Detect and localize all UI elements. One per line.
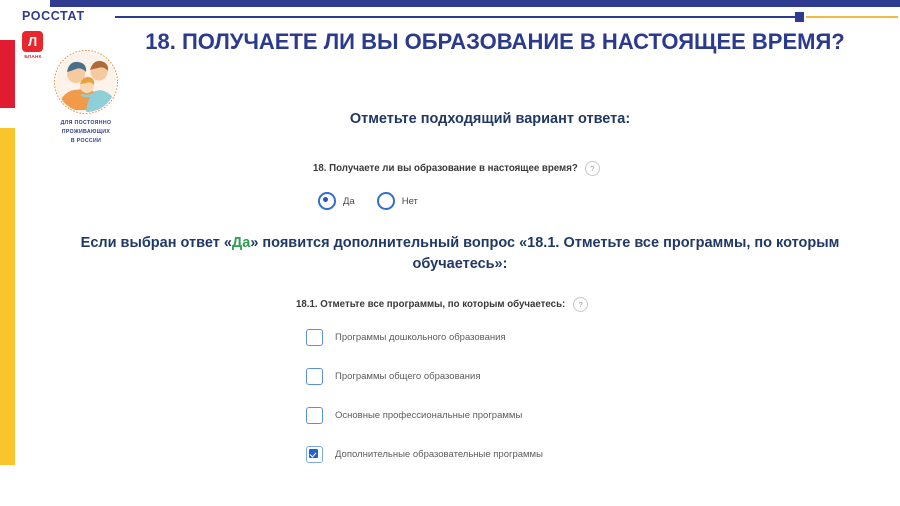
- horizontal-rule-blue: [115, 16, 797, 18]
- question-18-label: 18. Получаете ли вы образование в настоя…: [313, 163, 578, 174]
- checkbox-preschool-label: Программы дошкольного образования: [335, 332, 506, 343]
- blank-badge-caption: БЛАНК: [22, 54, 44, 59]
- checkbox-row-professional[interactable]: Основные профессиональные программы: [306, 407, 543, 424]
- checkbox-row-general[interactable]: Программы общего образования: [306, 368, 543, 385]
- question-18-1-label: 18.1. Отметьте все программы, по которым…: [296, 299, 565, 310]
- checkbox-professional-icon[interactable]: [306, 407, 323, 424]
- logo-caption: ДЛЯ ПОСТОЯННО ПРОЖИВАЮЩИХ В РОССИИ: [36, 119, 136, 146]
- note-text-after: » появится дополнительный вопрос «18.1. …: [250, 235, 839, 272]
- radio-option-yes[interactable]: Да: [318, 192, 355, 210]
- help-icon[interactable]: ?: [573, 297, 588, 312]
- horizontal-rule-orange: [806, 16, 898, 18]
- checkbox-additional-icon[interactable]: [306, 446, 323, 463]
- question-18-options: Да Нет: [318, 192, 418, 210]
- checkbox-general-icon[interactable]: [306, 368, 323, 385]
- radio-option-no[interactable]: Нет: [377, 192, 418, 210]
- page-title: 18. ПОЛУЧАЕТЕ ЛИ ВЫ ОБРАЗОВАНИЕ В НАСТОЯ…: [110, 28, 880, 57]
- checkbox-row-additional[interactable]: Дополнительные образовательные программы: [306, 446, 543, 463]
- checkbox-preschool-icon[interactable]: [306, 329, 323, 346]
- family-illustration-icon: [52, 48, 120, 116]
- question-18-1-options: Программы дошкольного образования Програ…: [306, 329, 543, 463]
- blank-badge-glyph: Л: [22, 31, 43, 52]
- brand-label: РОССТАТ: [22, 9, 85, 23]
- checkbox-row-preschool[interactable]: Программы дошкольного образования: [306, 329, 543, 346]
- question-18-1-row: 18.1. Отметьте все программы, по которым…: [296, 297, 588, 312]
- note-text-before: Если выбран ответ «: [81, 235, 232, 251]
- logo-caption-line-2: ПРОЖИВАЮЩИХ: [36, 128, 136, 137]
- logo-caption-line-3: В РОССИИ: [36, 137, 136, 146]
- blank-badge: Л БЛАНК: [22, 31, 44, 59]
- radio-yes-icon[interactable]: [318, 192, 336, 210]
- checkbox-general-label: Программы общего образования: [335, 371, 481, 382]
- checkbox-additional-label: Дополнительные образовательные программы: [335, 449, 543, 460]
- radio-yes-label: Да: [343, 196, 355, 207]
- brand-row: РОССТАТ: [0, 8, 900, 28]
- note-highlight: Да: [232, 235, 250, 251]
- left-accent-bar-yellow: [0, 128, 15, 465]
- checkbox-professional-label: Основные профессиональные программы: [335, 410, 522, 421]
- rule-square-marker: [795, 12, 804, 22]
- instruction-text: Отметьте подходящий вариант ответа:: [160, 111, 820, 127]
- radio-no-icon[interactable]: [377, 192, 395, 210]
- top-accent-bar: [50, 0, 900, 7]
- conditional-note: Если выбран ответ «Да» появится дополнит…: [70, 233, 850, 275]
- left-accent-bar-red: [0, 40, 15, 108]
- help-icon[interactable]: ?: [585, 161, 600, 176]
- radio-no-label: Нет: [402, 196, 418, 207]
- question-18-row: 18. Получаете ли вы образование в настоя…: [313, 161, 600, 176]
- logo-caption-line-1: ДЛЯ ПОСТОЯННО: [36, 119, 136, 128]
